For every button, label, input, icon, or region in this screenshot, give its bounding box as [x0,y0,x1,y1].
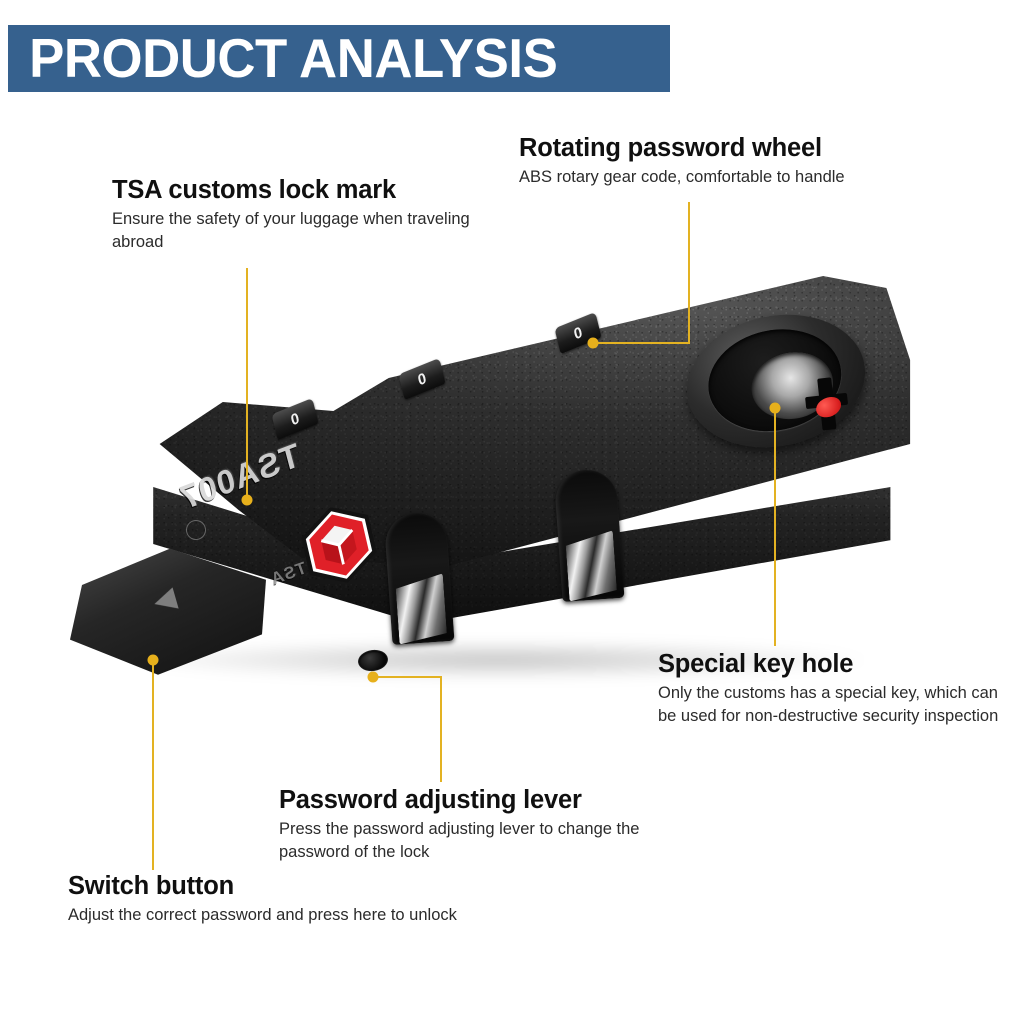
chrome-band-1 [395,573,448,644]
callout-tsa-customs-lock-mark: TSA customs lock mark Ensure the safety … [112,176,492,254]
password-dial-2-value: 0 [416,370,427,388]
callout-switch-button: Switch button Adjust the correct passwor… [68,872,468,927]
callout-lever-description: Press the password adjusting lever to ch… [279,818,699,865]
callout-wheel-title: Rotating password wheel [519,134,919,163]
leader-dot-keyhole [770,403,781,414]
chrome-band-2 [565,530,618,601]
callout-keyhole-description: Only the customs has a special key, whic… [658,682,1010,729]
leader-line-switch [152,660,154,870]
callout-wheel-description: ABS rotary gear code, comfortable to han… [519,166,919,189]
leader-dot-tsa [242,495,253,506]
callout-switch-title: Switch button [68,872,468,901]
leader-dot-wheel [588,338,599,349]
callout-tsa-title: TSA customs lock mark [112,176,492,205]
leader-line-wheel-horizontal [592,342,690,344]
leader-line-lever-horizontal [372,676,442,678]
leader-line-tsa [246,268,248,498]
header-banner: PRODUCT ANALYSIS [8,25,670,92]
leader-dot-switch [148,655,159,666]
password-dial-3-value: 0 [572,324,583,342]
infographic-canvas: PRODUCT ANALYSIS 0 0 0 TSA007 TSA [0,0,1024,1024]
callout-switch-description: Adjust the correct password and press he… [68,904,468,927]
leader-dot-lever [368,672,379,683]
leader-line-keyhole [774,408,776,646]
callout-special-key-hole: Special key hole Only the customs has a … [658,650,1010,728]
leader-line-wheel-vertical [688,202,690,344]
callout-lever-title: Password adjusting lever [279,786,699,815]
page-title: PRODUCT ANALYSIS [8,31,557,86]
leader-line-lever-vertical [440,676,442,782]
callout-tsa-description: Ensure the safety of your luggage when t… [112,208,492,255]
callout-rotating-password-wheel: Rotating password wheel ABS rotary gear … [519,134,919,189]
lever-slot-1[interactable] [384,511,455,645]
callout-keyhole-title: Special key hole [658,650,1010,679]
callout-password-adjusting-lever: Password adjusting lever Press the passw… [279,786,699,864]
password-dial-1-value: 0 [289,410,300,428]
lever-slot-2[interactable] [554,468,625,602]
